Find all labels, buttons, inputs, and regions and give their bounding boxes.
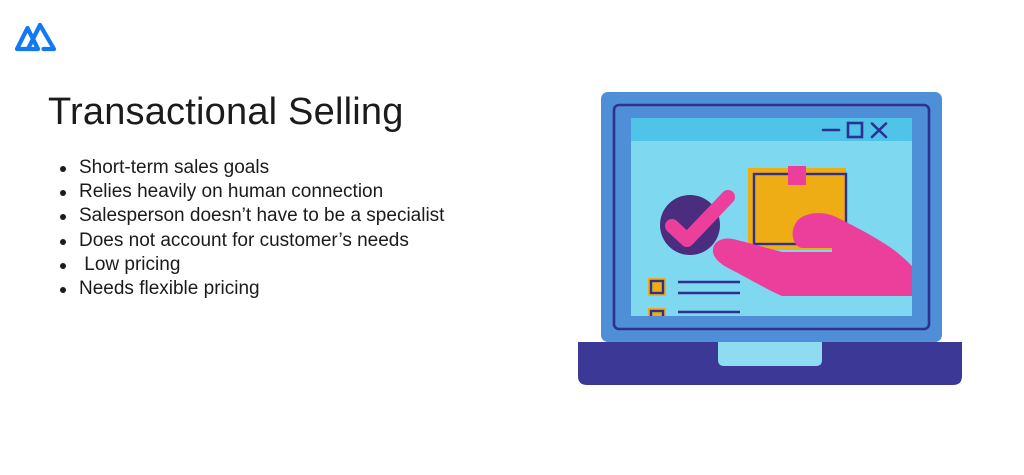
list-item: Low pricing — [48, 253, 548, 277]
illustration-svg — [570, 80, 970, 395]
bullet-list: Short-term sales goals Relies heavily on… — [48, 156, 548, 302]
brand-logo — [14, 19, 58, 55]
slide-text-column: Transactional Selling Short-term sales g… — [48, 92, 548, 302]
window-titlebar — [631, 118, 912, 141]
mountain-logo-icon — [14, 19, 58, 55]
page-title: Transactional Selling — [48, 92, 548, 134]
list-item: Relies heavily on human connection — [48, 180, 548, 204]
list-item: Short-term sales goals — [48, 156, 548, 180]
laptop-trackpad — [718, 342, 822, 366]
package-tape-icon — [788, 166, 806, 185]
list-item: Salesperson doesn’t have to be a special… — [48, 204, 548, 228]
list-item: Needs flexible pricing — [48, 277, 548, 301]
list-item: Does not account for customer’s needs — [48, 229, 548, 253]
laptop-delivery-illustration — [570, 80, 970, 395]
